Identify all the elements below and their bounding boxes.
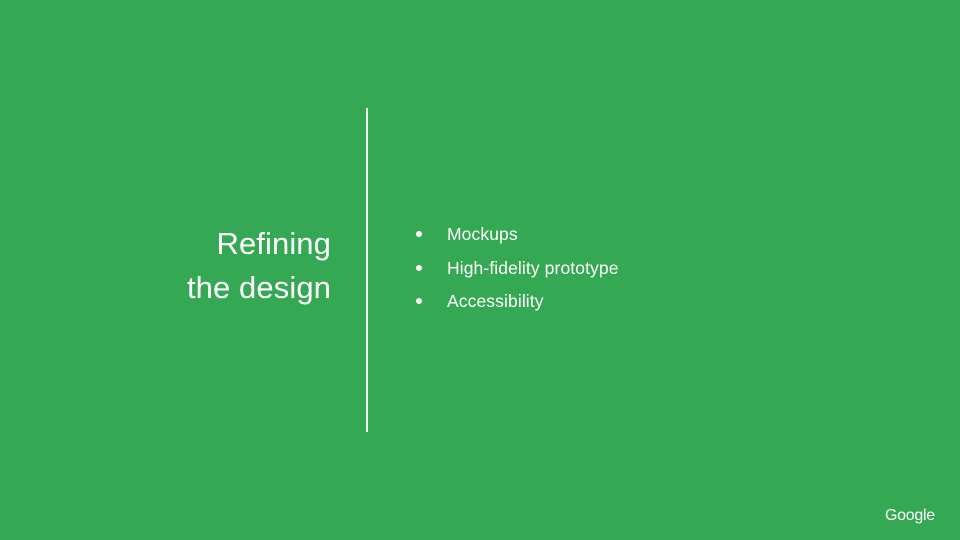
google-wordmark-logo: Google bbox=[885, 506, 935, 525]
bullet-dot-icon bbox=[416, 265, 422, 271]
list-item: High-fidelity prototype bbox=[410, 256, 890, 290]
list-item-label: Mockups bbox=[447, 222, 518, 246]
slide-canvas: Refining the design Mockups High-fidelit… bbox=[0, 0, 960, 540]
list-item-label: High-fidelity prototype bbox=[447, 256, 619, 280]
bullet-dot-icon bbox=[416, 298, 422, 304]
bullet-dot-icon bbox=[416, 231, 422, 237]
list-item-label: Accessibility bbox=[447, 289, 544, 313]
page-title-line-2: the design bbox=[60, 266, 331, 310]
page-title-line-1: Refining bbox=[60, 222, 331, 266]
list-item: Accessibility bbox=[410, 289, 890, 323]
list-item: Mockups bbox=[410, 222, 890, 256]
agenda-bullet-list: Mockups High-fidelity prototype Accessib… bbox=[410, 222, 890, 323]
vertical-divider bbox=[366, 108, 368, 432]
page-title: Refining the design bbox=[60, 222, 331, 310]
